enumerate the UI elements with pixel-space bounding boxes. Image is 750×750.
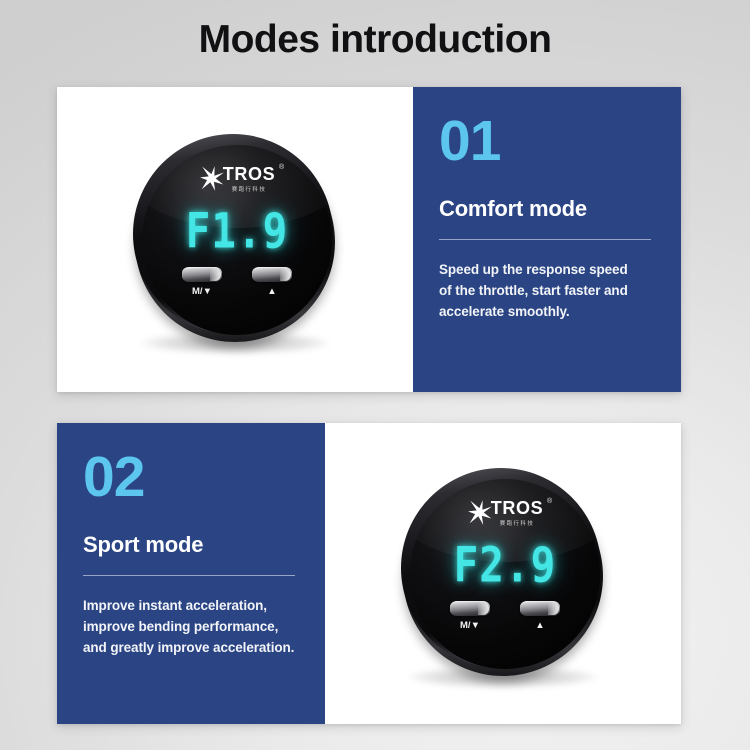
up-button[interactable]: ▲ bbox=[520, 601, 560, 631]
star-logo-icon bbox=[467, 499, 494, 526]
mode-down-button-cap[interactable] bbox=[182, 267, 222, 282]
throttle-controller-device: TROS ® 赛跑行科技 F1.9 M/▼ ▲ bbox=[129, 128, 341, 352]
info-panel-comfort: 01 Comfort mode Speed up the response sp… bbox=[413, 87, 681, 392]
brand-logo: TROS ® 赛跑行科技 bbox=[410, 499, 600, 527]
divider bbox=[439, 239, 651, 240]
mode-description-line: of the throttle, start faster and bbox=[439, 281, 659, 302]
mode-description-line: Speed up the response speed bbox=[439, 260, 659, 281]
mode-number: 02 bbox=[83, 449, 303, 506]
up-button-label: ▲ bbox=[520, 620, 560, 631]
info-panel-content: 01 Comfort mode Speed up the response sp… bbox=[439, 113, 659, 323]
registered-mark-icon: ® bbox=[547, 498, 552, 505]
mode-down-button-label: M/▼ bbox=[182, 286, 222, 297]
device-face: TROS ® 赛跑行科技 F2.9 M/▼ ▲ bbox=[410, 479, 600, 669]
mode-card-sport: 02 Sport mode Improve instant accelerati… bbox=[57, 423, 681, 724]
brand-text-wrap: TROS ® 赛跑行科技 bbox=[223, 165, 275, 193]
divider bbox=[83, 575, 295, 576]
mode-name: Sport mode bbox=[83, 532, 303, 558]
up-button-label: ▲ bbox=[252, 286, 292, 297]
led-display-readout: F2.9 bbox=[410, 536, 600, 593]
mode-description-line: and greatly improve acceleration. bbox=[83, 638, 303, 659]
mode-number: 01 bbox=[439, 113, 659, 170]
brand-name: TROS bbox=[491, 499, 543, 517]
registered-mark-icon: ® bbox=[279, 164, 284, 171]
mode-name: Comfort mode bbox=[439, 196, 659, 222]
info-panel-content: 02 Sport mode Improve instant accelerati… bbox=[83, 449, 303, 659]
throttle-controller-device: TROS ® 赛跑行科技 F2.9 M/▼ ▲ bbox=[397, 462, 609, 686]
mode-description-line: improve bending performance, bbox=[83, 617, 303, 638]
mode-down-button[interactable]: M/▼ bbox=[182, 267, 222, 297]
mode-description-line: Improve instant acceleration, bbox=[83, 596, 303, 617]
brand-subtitle: 赛跑行科技 bbox=[491, 519, 543, 527]
mode-description-line: accelerate smoothly. bbox=[439, 302, 659, 323]
device-bezel-ring: TROS ® 赛跑行科技 F1.9 M/▼ ▲ bbox=[133, 134, 333, 334]
mode-description: Speed up the response speed of the throt… bbox=[439, 260, 659, 323]
brand-subtitle: 赛跑行科技 bbox=[223, 185, 275, 193]
led-display-readout: F1.9 bbox=[142, 202, 332, 259]
star-logo-icon bbox=[199, 165, 226, 192]
brand-name: TROS bbox=[223, 165, 275, 183]
up-button-cap[interactable] bbox=[252, 267, 292, 282]
device-bezel-ring: TROS ® 赛跑行科技 F2.9 M/▼ ▲ bbox=[401, 468, 601, 668]
device-face: TROS ® 赛跑行科技 F1.9 M/▼ ▲ bbox=[142, 145, 332, 335]
page-title: Modes introduction bbox=[0, 18, 750, 62]
mode-card-comfort: TROS ® 赛跑行科技 F1.9 M/▼ ▲ bbox=[57, 87, 681, 392]
mode-down-button-label: M/▼ bbox=[450, 620, 490, 631]
up-button-cap[interactable] bbox=[520, 601, 560, 616]
device-button-row: M/▼ ▲ bbox=[142, 267, 332, 297]
mode-down-button[interactable]: M/▼ bbox=[450, 601, 490, 631]
brand-text-wrap: TROS ® 赛跑行科技 bbox=[491, 499, 543, 527]
device-panel-sport: TROS ® 赛跑行科技 F2.9 M/▼ ▲ bbox=[325, 423, 681, 724]
brand-logo: TROS ® 赛跑行科技 bbox=[142, 165, 332, 193]
mode-description: Improve instant acceleration, improve be… bbox=[83, 596, 303, 659]
info-panel-sport: 02 Sport mode Improve instant accelerati… bbox=[57, 423, 325, 724]
device-panel-comfort: TROS ® 赛跑行科技 F1.9 M/▼ ▲ bbox=[57, 87, 413, 392]
device-button-row: M/▼ ▲ bbox=[410, 601, 600, 631]
up-button[interactable]: ▲ bbox=[252, 267, 292, 297]
mode-down-button-cap[interactable] bbox=[450, 601, 490, 616]
